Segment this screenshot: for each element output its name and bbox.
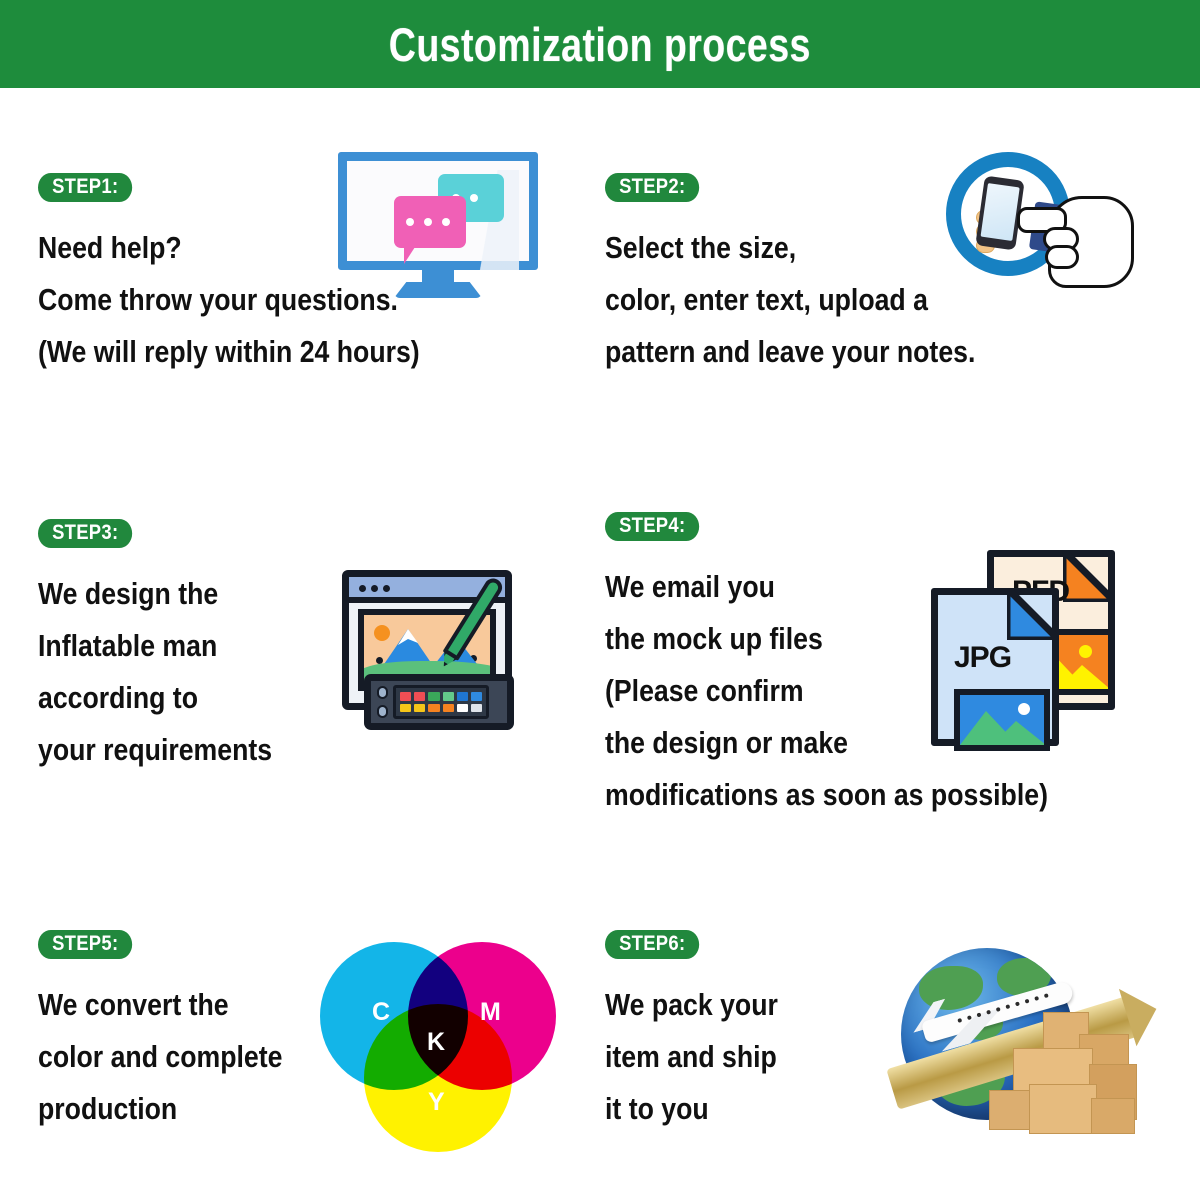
package-box — [1091, 1098, 1135, 1134]
cmyk-label-y: Y — [428, 1088, 445, 1117]
step-text-line: color and complete — [38, 1031, 282, 1083]
file-card-jpg: JPG — [931, 588, 1059, 746]
step-text-line: your requirements — [38, 724, 272, 776]
step-block-6: STEP6: We pack your item and ship it to … — [605, 930, 806, 1135]
step-text-line: We design the — [38, 568, 272, 620]
package-box — [1029, 1084, 1097, 1134]
monitor-chat-icon — [338, 152, 538, 302]
step-badge-5: STEP5: — [38, 930, 132, 959]
step-text-line: Inflatable man — [38, 620, 272, 672]
step-badge-3: STEP3: — [38, 519, 132, 548]
page-title: Customization process — [389, 17, 811, 72]
step-text-3: We design the Inflatable man according t… — [38, 568, 310, 776]
globe-shipping-icon — [893, 940, 1143, 1150]
cmyk-label-c: C — [372, 998, 390, 1027]
step-text-line: it to you — [605, 1083, 778, 1135]
step-text-line: item and ship — [605, 1031, 778, 1083]
file-mockups-icon: PFD JPG — [925, 548, 1135, 748]
step-block-5: STEP5: We convert the color and complete… — [38, 930, 322, 1135]
step-block-3: STEP3: We design the Inflatable man acco… — [38, 519, 310, 776]
file-label-jpg: JPG — [954, 641, 1011, 675]
chat-bubble-pink-icon — [394, 196, 466, 248]
step-text-line: Select the size, — [605, 222, 975, 274]
step-text-line: We pack your — [605, 979, 778, 1031]
folded-corner-icon — [1007, 588, 1059, 640]
cmyk-label-k: K — [427, 1028, 445, 1057]
step-text-line: We convert the — [38, 979, 282, 1031]
step-text-line: pattern and leave your notes. — [605, 326, 975, 378]
hand-phone-tap-icon — [928, 152, 1128, 292]
monitor-neck — [422, 270, 454, 284]
step-text-line: according to — [38, 672, 272, 724]
cmyk-label-m: M — [480, 998, 501, 1027]
step-text-line: (We will reply within 24 hours) — [38, 326, 420, 378]
step-badge-4: STEP4: — [605, 512, 699, 541]
header-banner: Customization process — [0, 0, 1200, 88]
step-text-line: production — [38, 1083, 282, 1135]
step-badge-2: STEP2: — [605, 173, 699, 202]
step-text-5: We convert the color and complete produc… — [38, 979, 322, 1135]
cmyk-venn-icon: C M K Y — [320, 942, 556, 1152]
step-text-line: modifications as soon as possible) — [605, 769, 1048, 821]
step-text-6: We pack your item and ship it to you — [605, 979, 806, 1135]
infographic-page: Customization process STEP1: Need help? … — [0, 0, 1200, 1200]
step-text-line: color, enter text, upload a — [605, 274, 975, 326]
file-thumbnail-jpg — [954, 689, 1050, 751]
color-palette — [364, 674, 514, 730]
step-badge-1: STEP1: — [38, 173, 132, 202]
monitor-base — [394, 282, 482, 298]
design-editor-icon — [336, 556, 536, 746]
pointing-hand-icon — [1048, 196, 1134, 288]
swatch-grid — [393, 685, 489, 719]
step-badge-6: STEP6: — [605, 930, 699, 959]
folded-corner-icon — [1063, 550, 1115, 602]
